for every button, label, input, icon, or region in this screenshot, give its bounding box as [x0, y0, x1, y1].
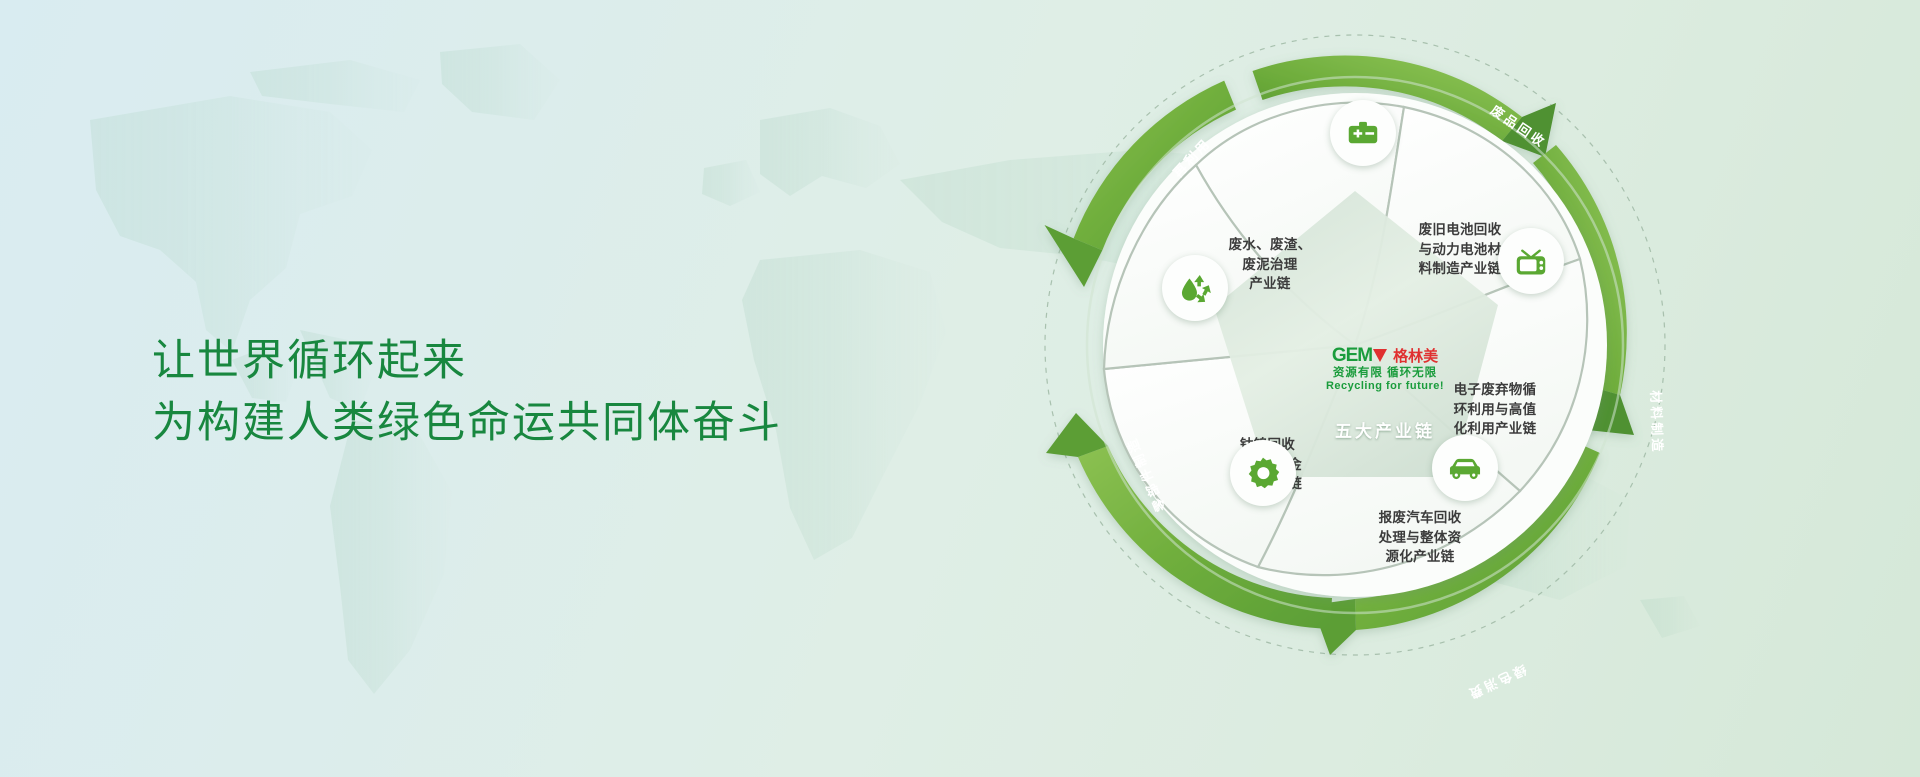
- headline-line-1: 让世界循环起来: [152, 330, 782, 392]
- headline-block: 让世界循环起来 为构建人类绿色命运共同体奋斗: [152, 330, 782, 454]
- water-recycle-icon: [1176, 269, 1214, 307]
- badge-water-recycle: [1162, 255, 1228, 321]
- gear-icon: [1244, 454, 1282, 492]
- badge-television: [1498, 228, 1564, 294]
- battery-icon: [1344, 114, 1382, 152]
- television-icon: [1512, 242, 1550, 280]
- headline-line-2: 为构建人类绿色命运共同体奋斗: [152, 392, 782, 454]
- car-icon: [1446, 449, 1484, 487]
- badge-gear: [1230, 440, 1296, 506]
- badge-battery: [1330, 100, 1396, 166]
- badge-car: [1432, 435, 1498, 501]
